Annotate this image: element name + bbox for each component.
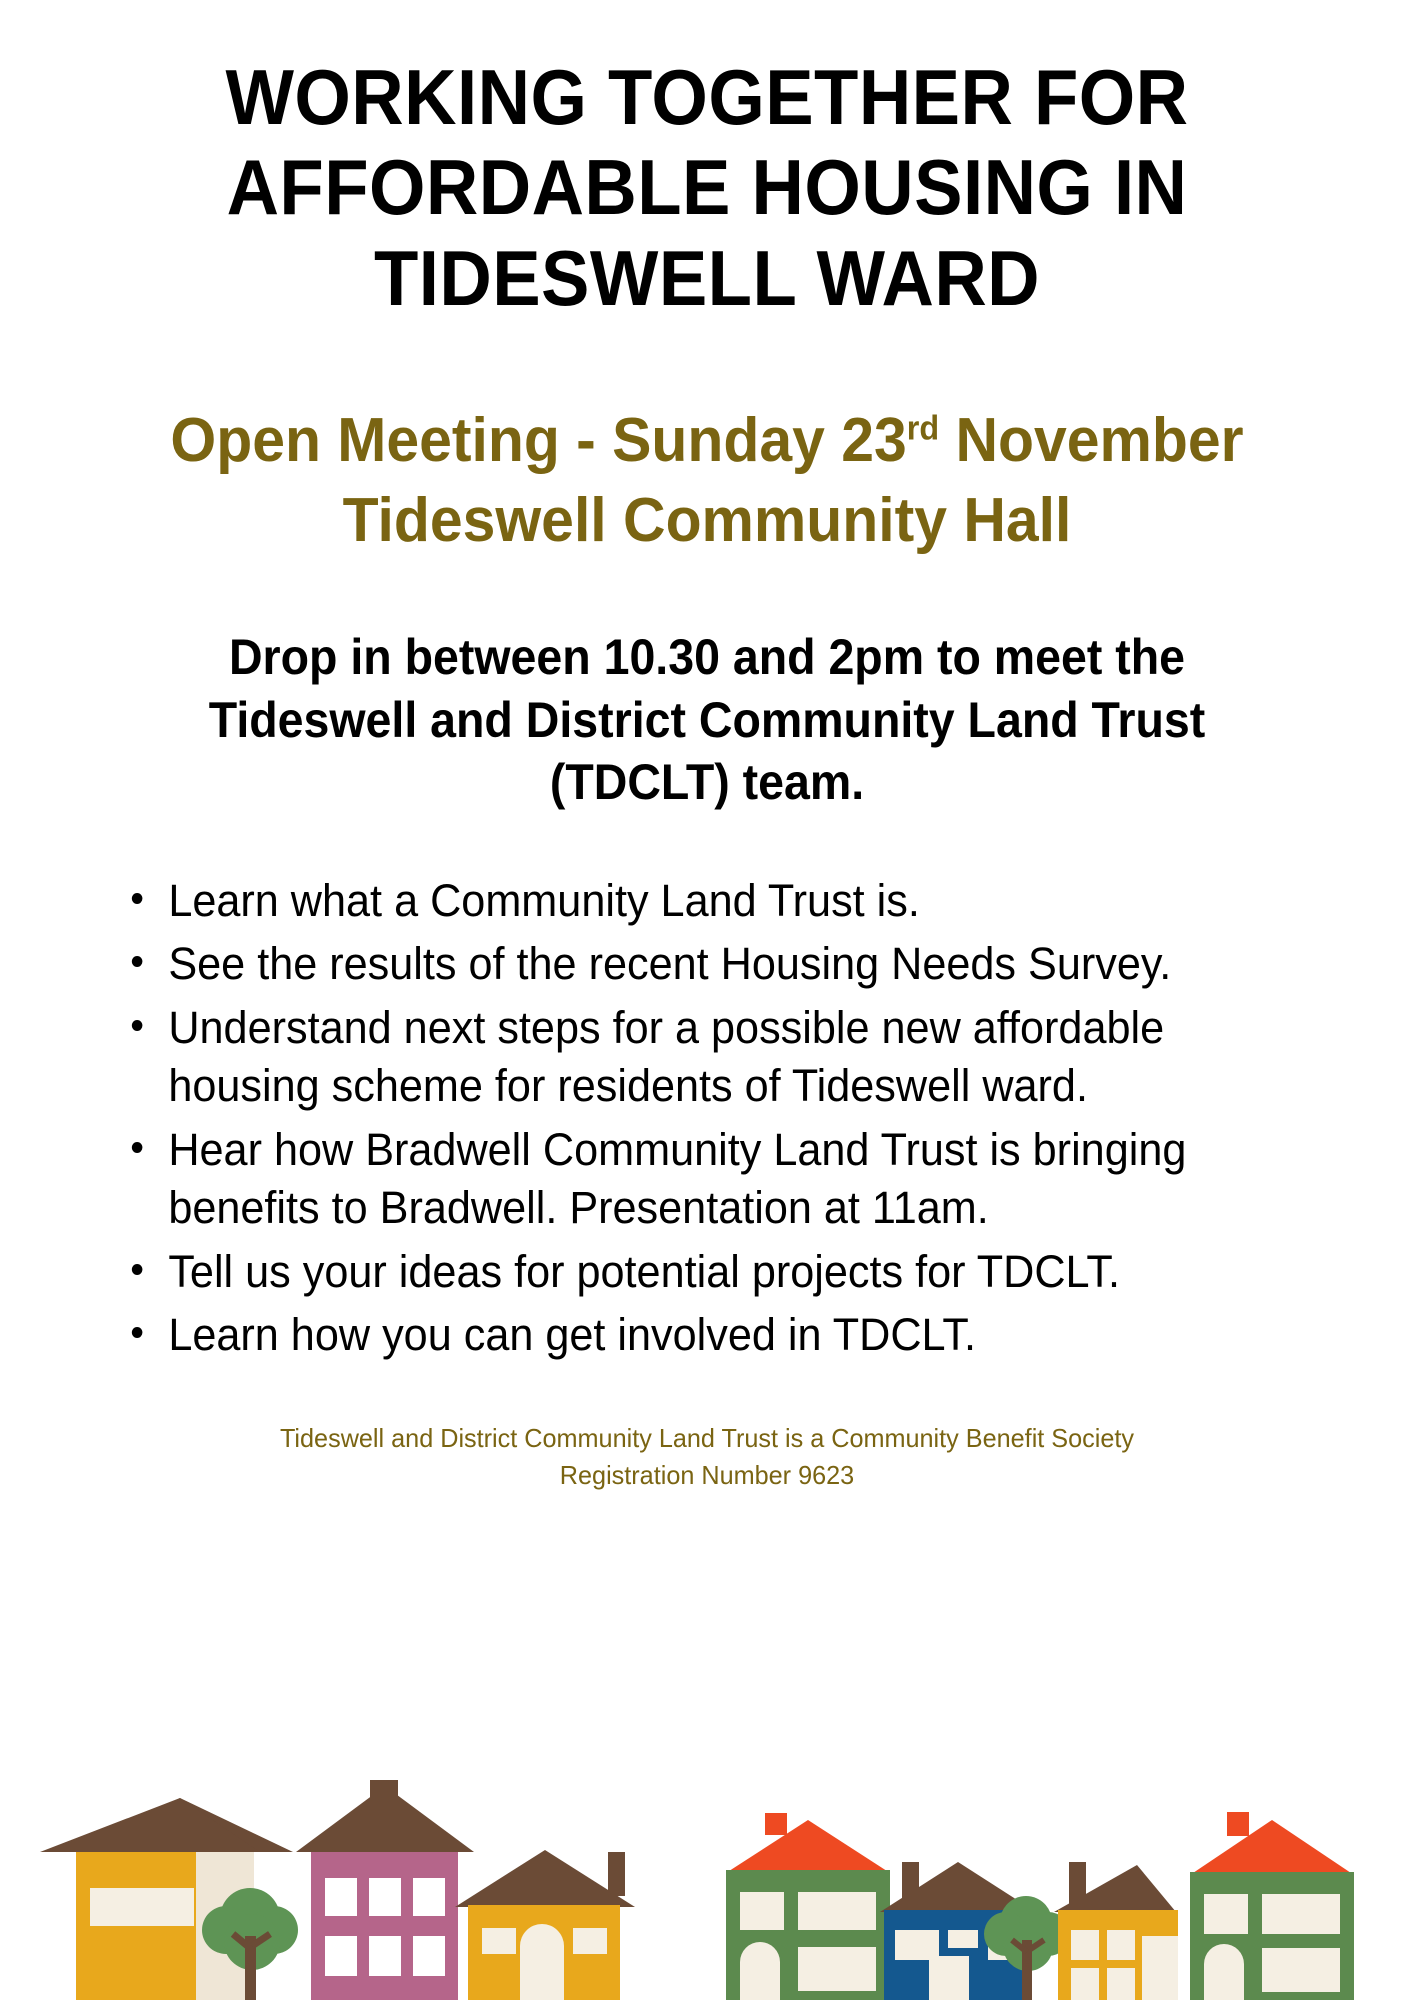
lead-line-3: (TDCLT) team.: [189, 751, 1225, 814]
footer-line-1: Tideswell and District Community Land Tr…: [138, 1420, 1277, 1458]
title-line-2: AFFORDABLE HOUSING IN: [161, 142, 1253, 232]
agenda-list: Learn what a Community Land Trust is. Se…: [0, 872, 1414, 1365]
list-item-label: Learn what a Community Land Trust is.: [168, 875, 920, 926]
ordinal-suffix: rd: [907, 410, 939, 448]
list-item-label: See the results of the recent Housing Ne…: [168, 938, 1171, 989]
list-item-label: Tell us your ideas for potential project…: [168, 1246, 1120, 1297]
list-item-label: Learn how you can get involved in TDCLT.: [168, 1309, 976, 1360]
list-item: Learn how you can get involved in TDCLT.: [128, 1306, 1295, 1365]
list-item: Understand next steps for a possible new…: [128, 999, 1295, 1116]
row-of-houses-illustration: [0, 1740, 1414, 2000]
event-month-text: November: [939, 406, 1243, 475]
bullet-dot-icon: [132, 956, 143, 967]
title-line-1: WORKING TOGETHER FOR: [161, 52, 1253, 142]
bullet-dot-icon: [132, 1327, 143, 1338]
lead-line-1: Drop in between 10.30 and 2pm to meet th…: [189, 626, 1225, 689]
event-date-line: Open Meeting - Sunday 23rd November: [92, 401, 1321, 480]
poster-canvas: WORKING TOGETHER FOR AFFORDABLE HOUSING …: [0, 0, 1414, 2000]
event-date-text: Open Meeting - Sunday 23: [170, 406, 906, 475]
lead-paragraph: Drop in between 10.30 and 2pm to meet th…: [0, 626, 1414, 814]
page-title: WORKING TOGETHER FOR AFFORDABLE HOUSING …: [0, 0, 1414, 323]
list-item: Tell us your ideas for potential project…: [128, 1243, 1295, 1302]
footer-line-2: Registration Number 9623: [138, 1457, 1277, 1495]
list-item-label: Hear how Bradwell Community Land Trust i…: [168, 1124, 1186, 1234]
list-item: See the results of the recent Housing Ne…: [128, 935, 1295, 994]
lead-line-2: Tideswell and District Community Land Tr…: [189, 689, 1225, 752]
house-orange-icon: [1054, 1862, 1178, 2000]
list-item: Learn what a Community Land Trust is.: [128, 872, 1295, 931]
list-item-label: Understand next steps for a possible new…: [168, 1002, 1164, 1112]
bullet-dot-icon: [132, 893, 143, 904]
event-venue-line: Tideswell Community Hall: [92, 481, 1321, 560]
bullet-dot-icon: [132, 1142, 143, 1153]
title-line-3: TIDESWELL WARD: [161, 233, 1253, 323]
house-small-orange-icon: [455, 1850, 635, 2000]
house-green-red-roof-right-icon: [1190, 1812, 1354, 2000]
list-item: Hear how Bradwell Community Land Trust i…: [128, 1121, 1295, 1238]
registration-footer: Tideswell and District Community Land Tr…: [0, 1420, 1414, 1495]
bullet-dot-icon: [132, 1264, 143, 1275]
house-pink-townhouse-icon: [296, 1780, 474, 2000]
house-green-red-roof-icon: [726, 1813, 890, 2000]
event-subtitle: Open Meeting - Sunday 23rd November Tide…: [0, 401, 1414, 560]
bullet-dot-icon: [132, 1020, 143, 1031]
